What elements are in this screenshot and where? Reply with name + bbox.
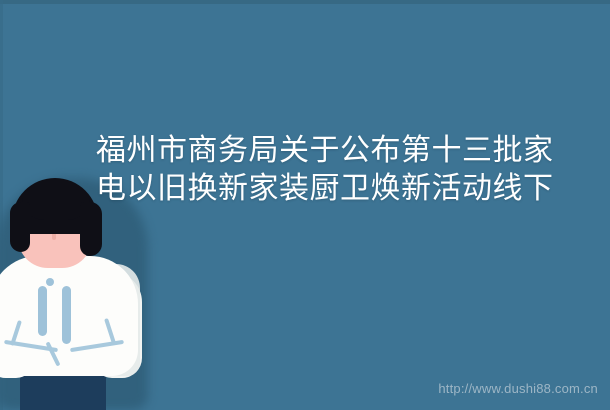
article-cover-image: 福州市商务局关于公布第十三批家 电以旧换新家装厨卫焕新活动线下 http://w… <box>0 0 610 410</box>
site-watermark: http://www.dushi88.com.cn <box>438 381 598 396</box>
hair-side-right <box>80 202 102 256</box>
hood-eyelet <box>46 278 54 286</box>
drawstring-left <box>38 286 47 336</box>
drawstring-right <box>62 286 71 344</box>
hair-side-left <box>10 202 30 252</box>
headline-text: 福州市商务局关于公布第十三批家 电以旧换新家装厨卫焕新活动线下 <box>96 132 596 208</box>
top-edge-band <box>0 0 610 4</box>
